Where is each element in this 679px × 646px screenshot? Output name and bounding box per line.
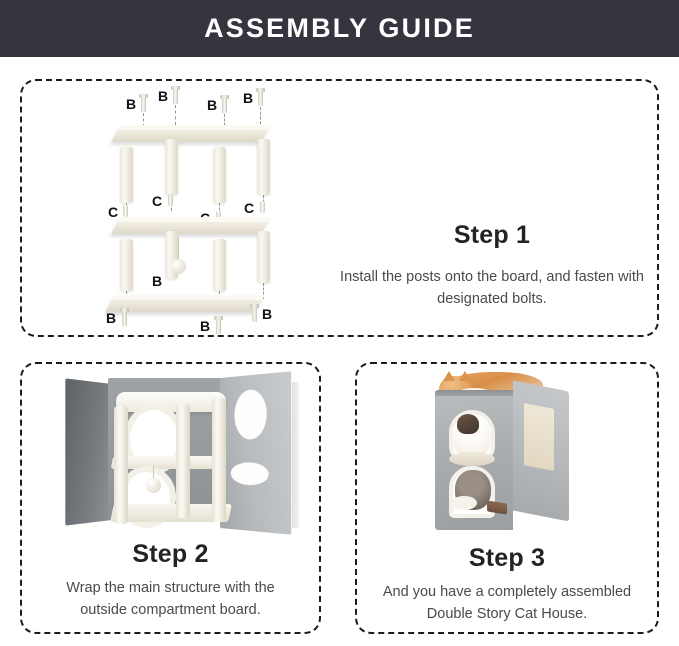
hanging-ball-toy (146, 478, 161, 493)
part-label-c: C (108, 205, 118, 219)
part-label-c: C (152, 194, 162, 208)
frame-top-board (116, 392, 226, 412)
wrap-board-edge (292, 382, 299, 528)
page-title: ASSEMBLY GUIDE (204, 13, 475, 44)
part-label-b: B (200, 319, 210, 333)
step-1-description: Install the posts onto the board, and fa… (322, 266, 662, 310)
step-2-title: Step 2 (22, 540, 319, 569)
frame-post-front-right (176, 404, 190, 518)
part-label-b: B (158, 89, 168, 103)
post (120, 147, 133, 203)
part-label-b: B (207, 98, 217, 112)
part-label-b: B (126, 97, 136, 111)
screw-icon (252, 307, 257, 322)
screw-icon (173, 89, 178, 104)
wrap-board-hole-lower (231, 462, 269, 486)
post (120, 239, 133, 291)
step-1-title: Step 1 (322, 221, 662, 250)
top-board (111, 125, 271, 142)
post (165, 139, 178, 195)
cat-tabby-paws (451, 496, 477, 510)
step-1-panel: B B B B C C C C (20, 79, 659, 337)
step-1-illustration: B B B B C C C C (92, 89, 312, 331)
step-3-panel: Step 3 And you have a completely assembl… (355, 362, 659, 634)
bolt-icon (168, 194, 173, 206)
cat-ear-icon (443, 371, 455, 381)
frame-post-back-right (212, 398, 226, 522)
step-3-title: Step 3 (357, 544, 657, 573)
bottom-board (105, 295, 265, 312)
part-label-b: B (243, 91, 253, 105)
cat-ear-icon (459, 371, 471, 381)
wrap-board-right (220, 371, 291, 535)
screw-icon (141, 97, 146, 112)
part-label-b: B (152, 274, 162, 288)
part-label-c: C (244, 201, 254, 215)
step-2-panel: Step 2 Wrap the main structure with the … (20, 362, 321, 634)
part-label-b: B (262, 307, 272, 321)
cat-calico-marking (457, 414, 479, 434)
screw-icon (222, 98, 227, 113)
step-2-illustration (60, 376, 295, 541)
wrap-board-left (65, 378, 112, 525)
step-3-illustration (427, 370, 602, 542)
screw-icon (122, 311, 127, 326)
post (257, 139, 270, 195)
side-scratch-panel (524, 403, 554, 471)
middle-cushion (449, 452, 495, 466)
assembly-guide-header: ASSEMBLY GUIDE (0, 0, 679, 57)
step-3-description: And you have a completely assembled Doub… (357, 581, 657, 625)
part-label-b: B (106, 311, 116, 325)
wrap-board-hole-upper (234, 388, 266, 439)
screw-icon (258, 91, 263, 106)
bolt-icon (123, 205, 128, 217)
hanging-ball-toy (171, 259, 186, 274)
step-1-text-block: Step 1 Install the posts onto the board,… (322, 221, 662, 310)
post (257, 231, 270, 283)
screw-icon (216, 319, 221, 334)
frame-post-front-left (114, 406, 128, 524)
post (213, 239, 226, 291)
step-2-text-block: Step 2 Wrap the main structure with the … (22, 540, 319, 621)
post (213, 147, 226, 203)
bolt-icon (260, 201, 265, 213)
step-2-description: Wrap the main structure with the outside… (22, 577, 319, 621)
alignment-guide (175, 105, 176, 125)
toy-string (178, 237, 179, 261)
step-3-text-block: Step 3 And you have a completely assembl… (357, 544, 657, 625)
middle-board (111, 217, 271, 234)
